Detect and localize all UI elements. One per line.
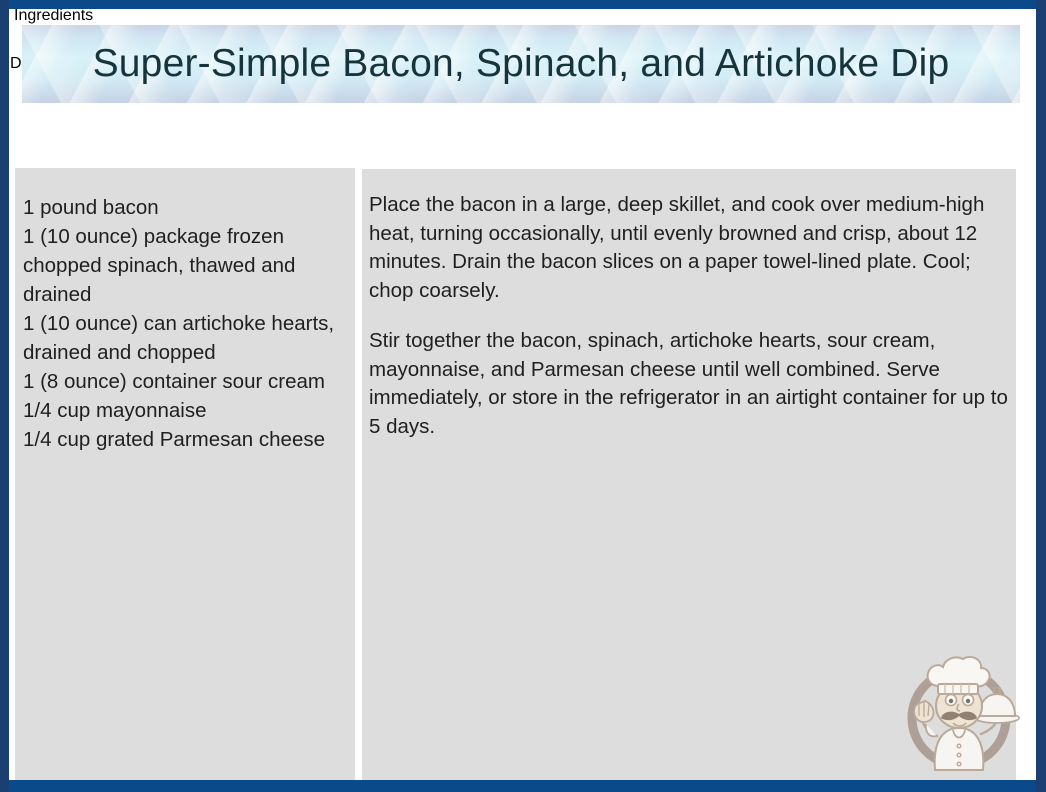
recipe-card-slide: Super-Simple Bacon, Spinach, and Articho…: [0, 0, 1046, 792]
column-divider: [355, 168, 362, 780]
ingredients-list: 1 pound bacon 1 (10 ounce) package froze…: [23, 193, 351, 454]
recipe-title: Super-Simple Bacon, Spinach, and Articho…: [22, 42, 1020, 86]
frame-border-left: [0, 0, 9, 792]
frame-border-top: [0, 0, 1046, 9]
frame-border-right: [1036, 0, 1046, 792]
directions-step: Place the bacon in a large, deep skillet…: [369, 191, 1016, 305]
ingredients-panel: 1 pound bacon 1 (10 ounce) package froze…: [15, 168, 355, 780]
directions-step: Stir together the bacon, spinach, artich…: [369, 327, 1016, 441]
ingredients-heading-label: Ingredients: [14, 7, 93, 24]
title-banner: Super-Simple Bacon, Spinach, and Articho…: [22, 25, 1020, 103]
frame-border-bottom: [0, 780, 1046, 792]
directions-body: Place the bacon in a large, deep skillet…: [369, 191, 1016, 441]
chef-mascot-logo: [893, 648, 1025, 780]
